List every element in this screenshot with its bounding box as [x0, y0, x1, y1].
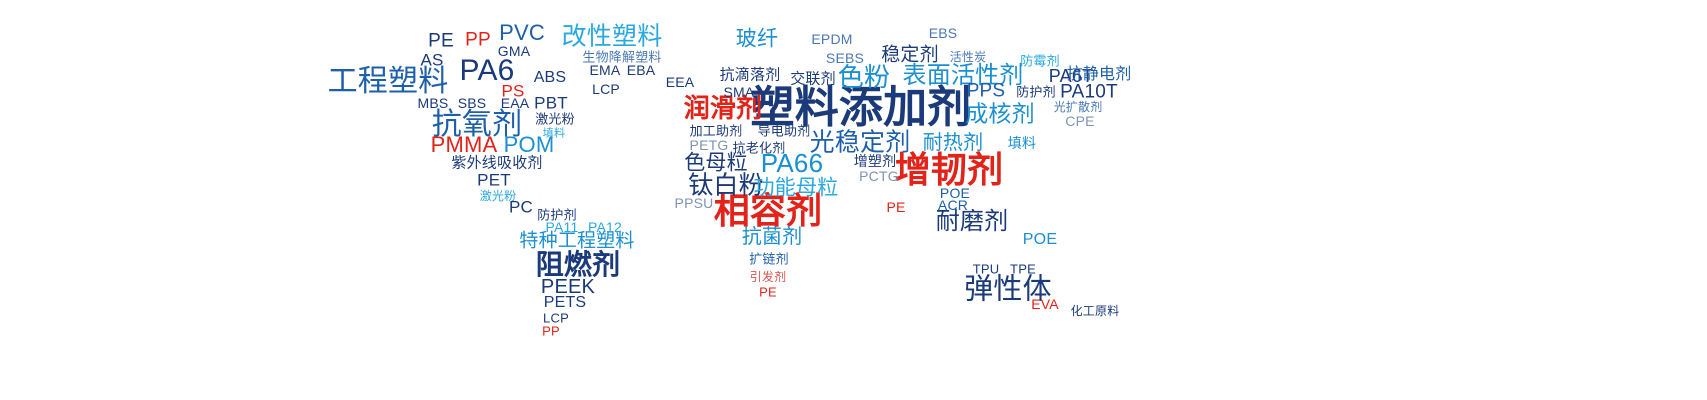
- wordcloud-term[interactable]: PE: [759, 286, 777, 299]
- wordcloud-term[interactable]: SMA: [724, 85, 755, 99]
- wordcloud-term[interactable]: 防霉剂: [1020, 55, 1060, 68]
- wordcloud-term[interactable]: PETG: [690, 138, 729, 152]
- wordcloud-term[interactable]: 抗老化剂: [733, 142, 786, 155]
- wordcloud-term[interactable]: PA12: [588, 220, 622, 234]
- wordcloud-term[interactable]: 化工原料: [1071, 305, 1120, 317]
- wordcloud-term[interactable]: 生物降解塑料: [582, 51, 661, 64]
- wordcloud-term[interactable]: PETS: [544, 295, 587, 311]
- wordcloud-term[interactable]: SEBS: [826, 51, 864, 65]
- wordcloud-term[interactable]: 填料: [1008, 136, 1036, 150]
- wordcloud-term[interactable]: 激光粉: [480, 190, 517, 202]
- wordcloud-term[interactable]: GMA: [498, 44, 531, 58]
- wordcloud-term[interactable]: EVA: [1031, 297, 1059, 311]
- wordcloud-term[interactable]: EEA: [666, 75, 695, 89]
- wordcloud-term[interactable]: 交联剂: [790, 72, 836, 87]
- wordcloud-term[interactable]: AS: [420, 52, 443, 69]
- wordcloud-term[interactable]: PP: [542, 325, 560, 338]
- wordcloud-term[interactable]: 扩链剂: [749, 253, 789, 266]
- wordcloud-term[interactable]: EBA: [627, 63, 656, 77]
- wordcloud-term[interactable]: TPE: [1010, 263, 1036, 276]
- wordcloud-term[interactable]: SBS: [458, 96, 487, 110]
- wordcloud-term[interactable]: 耐磨剂: [936, 210, 1009, 234]
- wordcloud-term[interactable]: 抗静电剂: [1067, 67, 1132, 83]
- wordcloud-term[interactable]: 表面活性剂: [903, 64, 1024, 88]
- wordcloud-term[interactable]: 功能母粒: [754, 178, 839, 199]
- wordcloud-term[interactable]: PBT: [534, 95, 568, 112]
- wordcloud-term[interactable]: 改性塑料: [562, 25, 663, 50]
- wordcloud-term[interactable]: 防护剂: [1016, 86, 1056, 99]
- wordcloud-term[interactable]: PCTG: [859, 169, 899, 183]
- wordcloud-term[interactable]: 增韧剂: [895, 152, 1004, 188]
- wordcloud-term[interactable]: 填料: [543, 129, 565, 140]
- wordcloud-term[interactable]: 工程塑料: [328, 67, 449, 97]
- wordcloud-term[interactable]: 引发剂: [750, 271, 787, 283]
- wordcloud-term[interactable]: PVC: [499, 22, 545, 44]
- wordcloud-term[interactable]: 防护剂: [537, 209, 577, 222]
- wordcloud-term[interactable]: 稳定剂: [881, 46, 939, 65]
- wordcloud-term[interactable]: PPS: [967, 82, 1006, 101]
- wordcloud-term[interactable]: 抗菌剂: [742, 227, 803, 247]
- wordcloud-term[interactable]: 成核剂: [965, 103, 1035, 126]
- wordcloud-term[interactable]: 增塑剂: [854, 154, 897, 168]
- wordcloud-term[interactable]: 导电助剂: [758, 125, 811, 138]
- wordcloud-term[interactable]: PET: [477, 172, 511, 189]
- wordcloud-term[interactable]: POE: [1023, 232, 1057, 248]
- wordcloud-term[interactable]: 色粉: [838, 64, 890, 90]
- wordcloud-term[interactable]: 活性炭: [950, 51, 987, 63]
- wordcloud-term[interactable]: MBS: [418, 96, 449, 110]
- wordcloud-term[interactable]: 加工助剂: [690, 125, 743, 138]
- wordcloud-term[interactable]: LCP: [592, 82, 620, 96]
- wordcloud-term[interactable]: PE: [886, 200, 905, 214]
- wordcloud-term[interactable]: 激光粉: [535, 113, 575, 126]
- wordcloud-term[interactable]: 阻燃剂: [536, 251, 621, 279]
- wordcloud-term[interactable]: ABS: [534, 70, 567, 86]
- wordcloud-term[interactable]: PE: [428, 32, 454, 51]
- wordcloud-term[interactable]: 色母粒: [684, 153, 748, 174]
- wordcloud-term[interactable]: 紫外线吸收剂: [451, 156, 542, 171]
- wordcloud-term[interactable]: 玻纤: [736, 29, 778, 50]
- wordcloud-canvas: 塑料添加剂增韧剂相容剂工程塑料抗氧剂弹性体阻燃剂PA6润滑剂光稳定剂表面活性剂钛…: [0, 0, 1707, 400]
- wordcloud-term[interactable]: TPU: [973, 263, 1000, 276]
- wordcloud-term[interactable]: ACR: [938, 198, 968, 212]
- wordcloud-term[interactable]: EAA: [501, 96, 530, 110]
- wordcloud-term[interactable]: EMA: [590, 63, 621, 77]
- wordcloud-term[interactable]: PPSU: [675, 196, 714, 210]
- wordcloud-term[interactable]: EBS: [929, 26, 958, 40]
- wordcloud-term[interactable]: 光稳定剂: [810, 131, 911, 156]
- wordcloud-term[interactable]: 光扩散剂: [1054, 101, 1103, 113]
- wordcloud-term[interactable]: 耐热剂: [923, 133, 984, 153]
- wordcloud-term[interactable]: CPE: [1065, 114, 1094, 128]
- wordcloud-term[interactable]: EPDM: [811, 32, 852, 46]
- wordcloud-term[interactable]: PMMA: [431, 134, 498, 156]
- wordcloud-term[interactable]: PP: [465, 31, 491, 50]
- wordcloud-term[interactable]: 抗滴落剂: [720, 68, 781, 83]
